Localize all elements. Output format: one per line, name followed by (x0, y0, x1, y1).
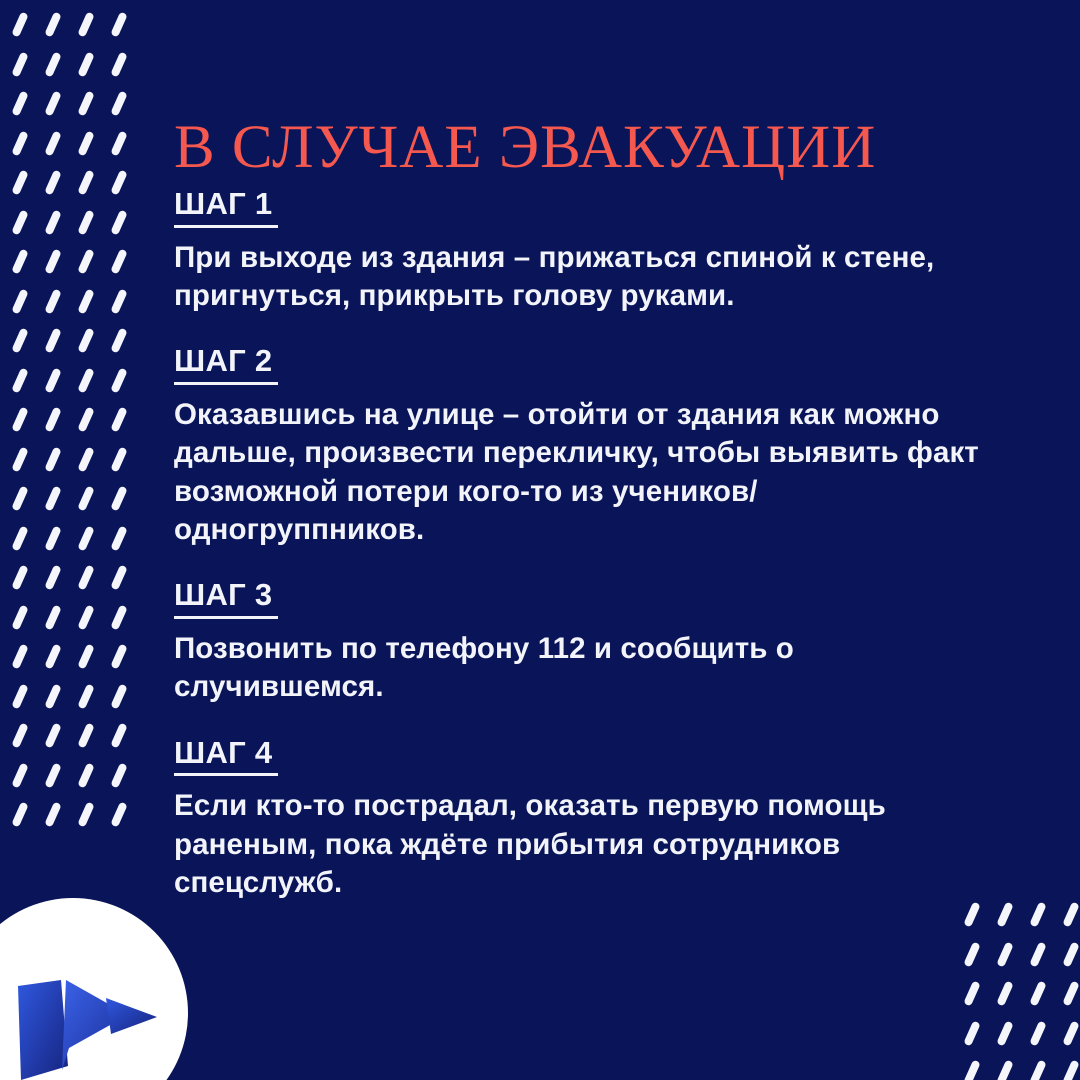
slash-mark-icon (44, 288, 61, 314)
slash-mark-icon (44, 722, 61, 748)
slash-mark-icon (77, 169, 94, 195)
decorative-slash-pattern-bottom-right (960, 890, 1080, 1080)
slash-mark-icon (1029, 1020, 1046, 1046)
slash-mark-icon (44, 11, 61, 37)
slash-mark-icon (77, 643, 94, 669)
slash-mark-icon (11, 51, 28, 77)
slash-mark-icon (1029, 1059, 1046, 1080)
slash-mark-icon (110, 683, 127, 709)
slash-mark-icon (11, 209, 28, 235)
slash-mark-icon (44, 683, 61, 709)
slash-mark-icon (11, 762, 28, 788)
slash-mark-icon (963, 901, 980, 927)
slash-mark-icon (11, 564, 28, 590)
poster-canvas: В СЛУЧАЕ ЭВАКУАЦИИ ШАГ 1 При выходе из з… (0, 0, 1080, 1080)
slash-mark-icon (110, 367, 127, 393)
slash-mark-icon (11, 406, 28, 432)
slash-mark-icon (1062, 1020, 1079, 1046)
slash-mark-icon (77, 90, 94, 116)
slash-mark-icon (996, 980, 1013, 1006)
slash-mark-icon (44, 762, 61, 788)
logo-svg (0, 898, 188, 1080)
slash-mark-icon (44, 130, 61, 156)
step-heading: ШАГ 2 (174, 343, 278, 385)
slash-mark-icon (11, 169, 28, 195)
slash-mark-icon (77, 485, 94, 511)
page-title: В СЛУЧАЕ ЭВАКУАЦИИ (174, 117, 876, 178)
slash-mark-icon (77, 604, 94, 630)
slash-mark-icon (996, 941, 1013, 967)
slash-mark-icon (77, 801, 94, 827)
slash-mark-icon (77, 722, 94, 748)
slash-mark-icon (11, 367, 28, 393)
step-body: Если кто-то пострадал, оказать первую по… (174, 787, 984, 902)
step-heading: ШАГ 3 (174, 577, 278, 619)
slash-mark-icon (77, 130, 94, 156)
slash-mark-icon (44, 604, 61, 630)
step-body: При выходе из здания – прижаться спиной … (174, 239, 984, 316)
step-item: ШАГ 3 Позвонить по телефону 112 и сообщи… (174, 577, 1004, 706)
slash-mark-icon (110, 248, 127, 274)
slash-mark-icon (11, 327, 28, 353)
slash-mark-icon (110, 90, 127, 116)
slash-mark-icon (44, 51, 61, 77)
slash-mark-icon (110, 446, 127, 472)
step-item: ШАГ 4 Если кто-то пострадал, оказать пер… (174, 735, 1004, 903)
slash-mark-icon (44, 327, 61, 353)
slash-mark-icon (44, 643, 61, 669)
slash-mark-icon (77, 525, 94, 551)
slash-mark-icon (110, 406, 127, 432)
slash-mark-icon (996, 1059, 1013, 1080)
slash-mark-icon (11, 722, 28, 748)
slash-mark-icon (963, 1059, 980, 1080)
slash-mark-icon (44, 367, 61, 393)
slash-mark-icon (11, 604, 28, 630)
step-item: ШАГ 2 Оказавшись на улице – отойти от зд… (174, 343, 1004, 549)
slash-mark-icon (44, 169, 61, 195)
slash-mark-icon (963, 980, 980, 1006)
slash-mark-icon (77, 288, 94, 314)
slash-mark-icon (44, 446, 61, 472)
slash-mark-icon (11, 801, 28, 827)
slash-mark-icon (11, 485, 28, 511)
slash-mark-icon (1062, 980, 1079, 1006)
slash-mark-icon (44, 801, 61, 827)
slash-mark-icon (1062, 901, 1079, 927)
slash-mark-icon (1062, 941, 1079, 967)
slash-mark-icon (110, 525, 127, 551)
slash-mark-icon (77, 327, 94, 353)
slash-mark-icon (110, 643, 127, 669)
slash-mark-icon (11, 130, 28, 156)
slash-mark-icon (11, 11, 28, 37)
slash-mark-icon (44, 525, 61, 551)
slash-mark-icon (11, 643, 28, 669)
slash-mark-icon (1029, 901, 1046, 927)
step-body: Позвонить по телефону 112 и сообщить о с… (174, 630, 984, 707)
slash-mark-icon (77, 564, 94, 590)
slash-mark-icon (1062, 1059, 1079, 1080)
slash-mark-icon (1029, 941, 1046, 967)
slash-mark-icon (77, 51, 94, 77)
slash-mark-icon (44, 485, 61, 511)
slash-mark-icon (996, 901, 1013, 927)
slash-mark-icon (110, 801, 127, 827)
slash-mark-icon (110, 327, 127, 353)
slash-mark-icon (963, 1020, 980, 1046)
slash-mark-icon (11, 683, 28, 709)
slash-mark-icon (77, 367, 94, 393)
steps-list: ШАГ 1 При выходе из здания – прижаться с… (174, 186, 1004, 902)
slash-mark-icon (11, 248, 28, 274)
slash-mark-icon (77, 762, 94, 788)
slash-mark-icon (11, 446, 28, 472)
slash-mark-icon (110, 722, 127, 748)
slash-mark-icon (110, 288, 127, 314)
step-heading: ШАГ 4 (174, 735, 278, 777)
slash-mark-icon (110, 762, 127, 788)
slash-mark-icon (11, 288, 28, 314)
slash-mark-icon (963, 941, 980, 967)
step-body: Оказавшись на улице – отойти от здания к… (174, 396, 984, 549)
slash-mark-icon (77, 406, 94, 432)
slash-mark-icon (110, 130, 127, 156)
slash-mark-icon (77, 11, 94, 37)
slash-mark-icon (11, 90, 28, 116)
slash-mark-icon (110, 209, 127, 235)
slash-mark-icon (110, 11, 127, 37)
slash-mark-icon (11, 525, 28, 551)
slash-mark-icon (44, 209, 61, 235)
decorative-slash-pattern-left (0, 0, 130, 830)
slash-mark-icon (77, 248, 94, 274)
slash-mark-icon (110, 564, 127, 590)
slash-mark-icon (44, 564, 61, 590)
slash-mark-icon (77, 209, 94, 235)
slash-mark-icon (110, 485, 127, 511)
slash-mark-icon (110, 51, 127, 77)
logo-bar-shape (18, 980, 68, 1080)
slash-mark-icon (77, 683, 94, 709)
slash-mark-icon (110, 604, 127, 630)
step-item: ШАГ 1 При выходе из здания – прижаться с… (174, 186, 1004, 315)
fast-forward-arrow-logo (0, 898, 188, 1080)
slash-mark-icon (110, 169, 127, 195)
slash-mark-icon (1029, 980, 1046, 1006)
slash-mark-icon (77, 446, 94, 472)
slash-mark-icon (44, 406, 61, 432)
slash-mark-icon (44, 90, 61, 116)
slash-mark-icon (44, 248, 61, 274)
slash-mark-icon (996, 1020, 1013, 1046)
step-heading: ШАГ 1 (174, 186, 278, 228)
